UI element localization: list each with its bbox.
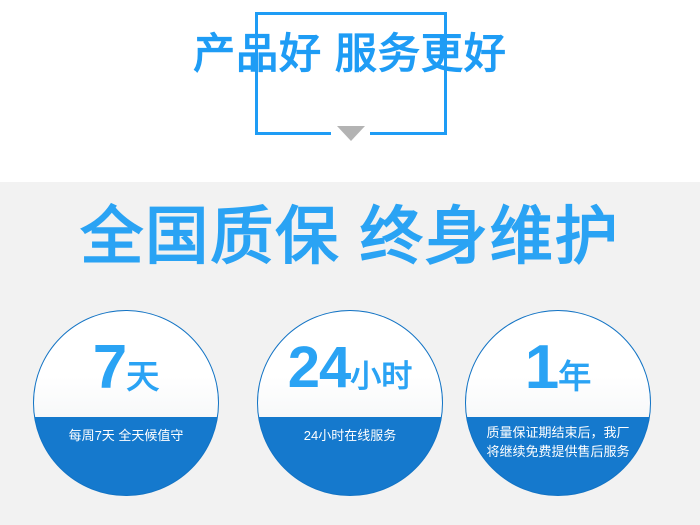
section-title: 全国质保 终身维护 <box>0 206 700 269</box>
badge-caption: 每周7天 全天候值守 <box>69 426 184 445</box>
badge-top-half: 24小时 <box>258 311 442 417</box>
badge-caption: 24小时在线服务 <box>304 426 396 445</box>
badge-number-group: 1年 <box>525 337 591 399</box>
badge-number-group: 24小时 <box>288 339 413 397</box>
badge-top-half: 1年 <box>466 311 650 417</box>
badge-number: 24 <box>288 335 351 400</box>
badge-caption: 质量保证期结束后，我厂将继续免费提供售后服务 <box>483 423 633 461</box>
badge-number-group: 7天 <box>93 337 159 399</box>
badge-list: 7天 每周7天 全天候值守 24小时 24小时在线服务 <box>0 310 700 510</box>
badge-bottom-half: 每周7天 全天候值守 <box>34 417 218 496</box>
badge-top-half: 7天 <box>34 311 218 417</box>
badge-1-year: 1年 质量保证期结束后，我厂将继续免费提供售后服务 <box>465 310 651 496</box>
top-banner: 产品好 服务更好 <box>0 0 700 182</box>
badge-number: 7 <box>93 333 126 402</box>
badge-bottom-half: 质量保证期结束后，我厂将继续免费提供售后服务 <box>466 417 650 496</box>
badge-unit: 年 <box>558 358 591 395</box>
badge-unit: 小时 <box>350 359 412 394</box>
banner-title: 产品好 服务更好 <box>0 33 700 75</box>
triangle-down-icon <box>337 126 365 141</box>
promo-page: 产品好 服务更好 全国质保 终身维护 7天 每周7天 全天候值守 <box>0 0 700 525</box>
badge-number: 1 <box>525 333 558 402</box>
badge-7-days: 7天 每周7天 全天候值守 <box>33 310 219 496</box>
warranty-section: 全国质保 终身维护 7天 每周7天 全天候值守 24小时 <box>0 182 700 525</box>
badge-bottom-half: 24小时在线服务 <box>258 417 442 496</box>
badge-unit: 天 <box>126 358 159 395</box>
badge-24-hours: 24小时 24小时在线服务 <box>257 310 443 496</box>
